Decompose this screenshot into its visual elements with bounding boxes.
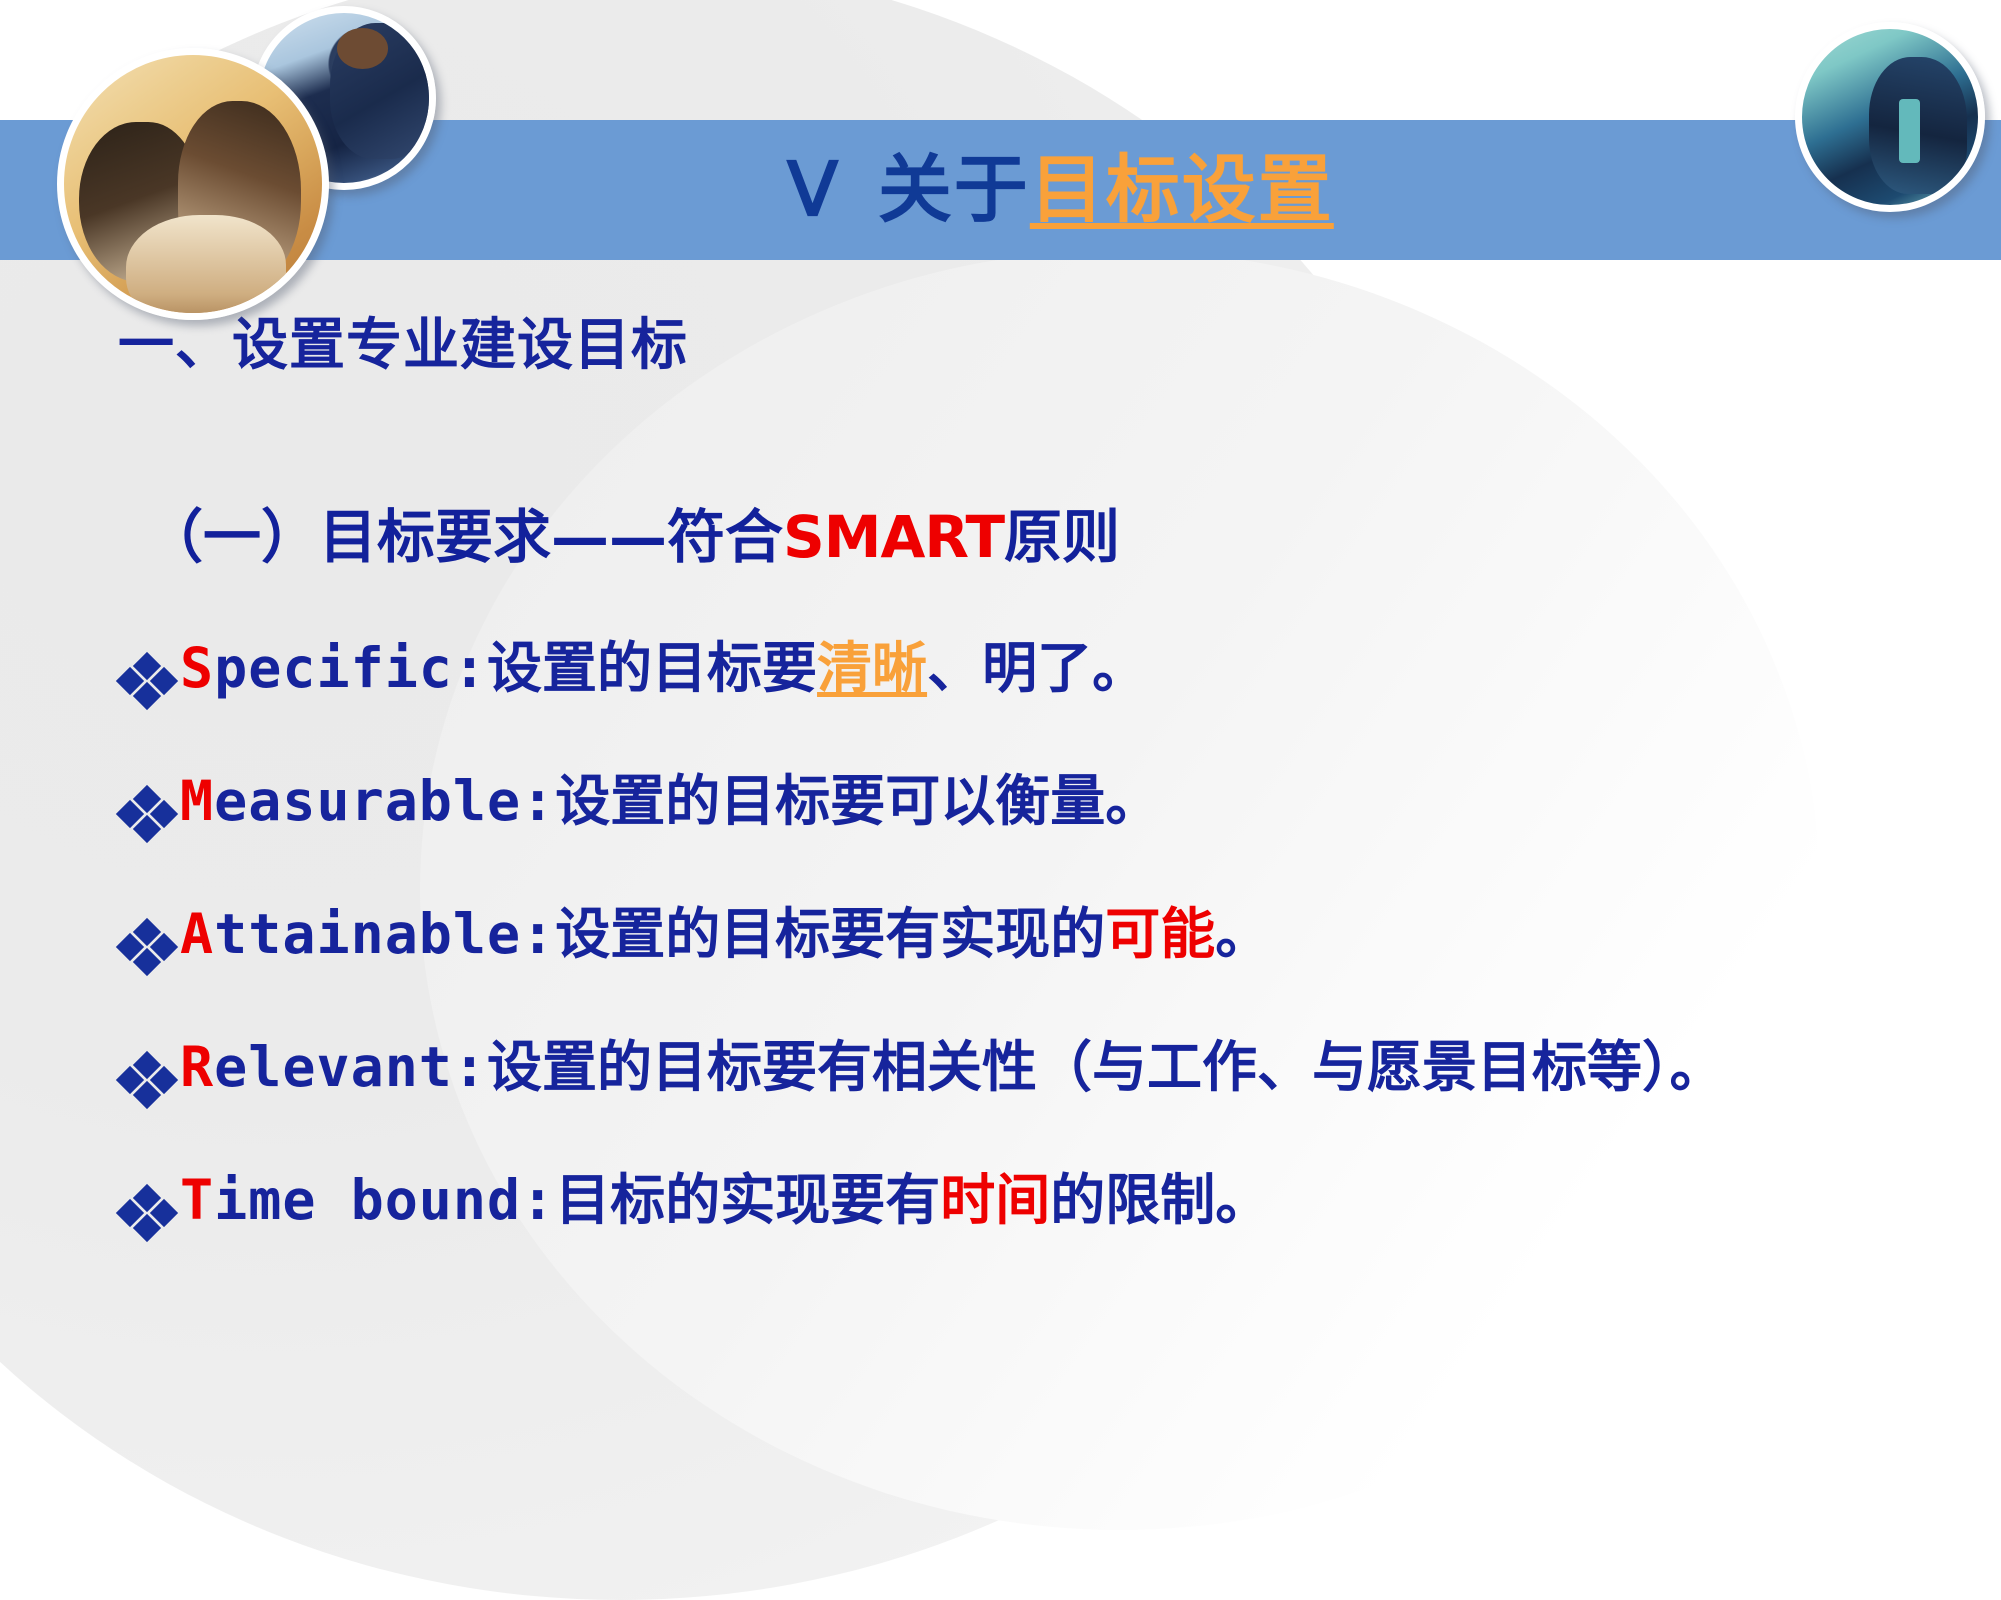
smart-bullet-list: Specific:设置的目标要清晰、明了。 Measurable:设置的目标要可… [118,638,1938,1303]
bullet-initial: S [180,636,214,700]
bullet-term: pecific: [214,636,487,700]
presenter-at-whiteboard-photo [1795,22,1985,212]
bullet-term: elevant: [214,1035,487,1099]
bullet-term: easurable: [214,769,555,833]
list-item: Relevant:设置的目标要有相关性（与工作、与愿景目标等）。 [118,1037,1938,1107]
bullet-highlight: 清晰 [817,636,927,700]
bullet-initial: R [180,1035,214,1099]
bullet-text-after: 。 [1215,902,1270,966]
sub-heading-suffix: 原则 [1004,503,1120,571]
bullet-text-after: 的限制。 [1050,1168,1270,1232]
list-item: Time bound:目标的实现要有时间的限制。 [118,1170,1938,1240]
diamond-cluster-icon [118,1186,180,1240]
bullet-term: ime bound: [214,1168,555,1232]
diamond-cluster-icon [118,654,180,708]
bullet-text: Time bound:目标的实现要有时间的限制。 [180,1170,1270,1231]
bullet-text: Measurable:设置的目标要可以衡量。 [180,771,1160,832]
bullet-highlight: 可能 [1105,902,1215,966]
bullet-term: ttainable: [214,902,555,966]
sub-heading: （一）目标要求——符合SMART原则 [145,490,1120,574]
business-men-at-laptop-photo [57,48,329,320]
bullet-text: Specific:设置的目标要清晰、明了。 [180,638,1147,699]
bullet-text-before: 目标的实现要有 [555,1168,940,1232]
sub-heading-accent: SMART [783,503,1004,571]
bullet-text-before: 设置的目标要可以衡量。 [555,769,1160,833]
list-item: Attainable:设置的目标要有实现的可能。 [118,904,1938,974]
list-item: Measurable:设置的目标要可以衡量。 [118,771,1938,841]
bullet-initial: A [180,902,214,966]
bullet-text: Relevant:设置的目标要有相关性（与工作、与愿景目标等）。 [180,1037,1725,1098]
diamond-cluster-icon [118,1053,180,1107]
list-item: Specific:设置的目标要清晰、明了。 [118,638,1938,708]
sub-heading-prefix: （一）目标要求——符合 [145,503,783,571]
bullet-highlight: 时间 [940,1168,1050,1232]
bullet-initial: T [180,1168,214,1232]
bullet-text-after: 、明了。 [927,636,1147,700]
bullet-text-before: 设置的目标要有实现的 [555,902,1105,966]
bullet-text: Attainable:设置的目标要有实现的可能。 [180,904,1270,965]
diamond-cluster-icon [118,787,180,841]
bullet-text-before: 设置的目标要有相关性（与工作、与愿景目标等）。 [487,1035,1725,1099]
diamond-cluster-icon [118,920,180,974]
bullet-text-before: 设置的目标要 [487,636,817,700]
bullet-initial: M [180,769,214,833]
